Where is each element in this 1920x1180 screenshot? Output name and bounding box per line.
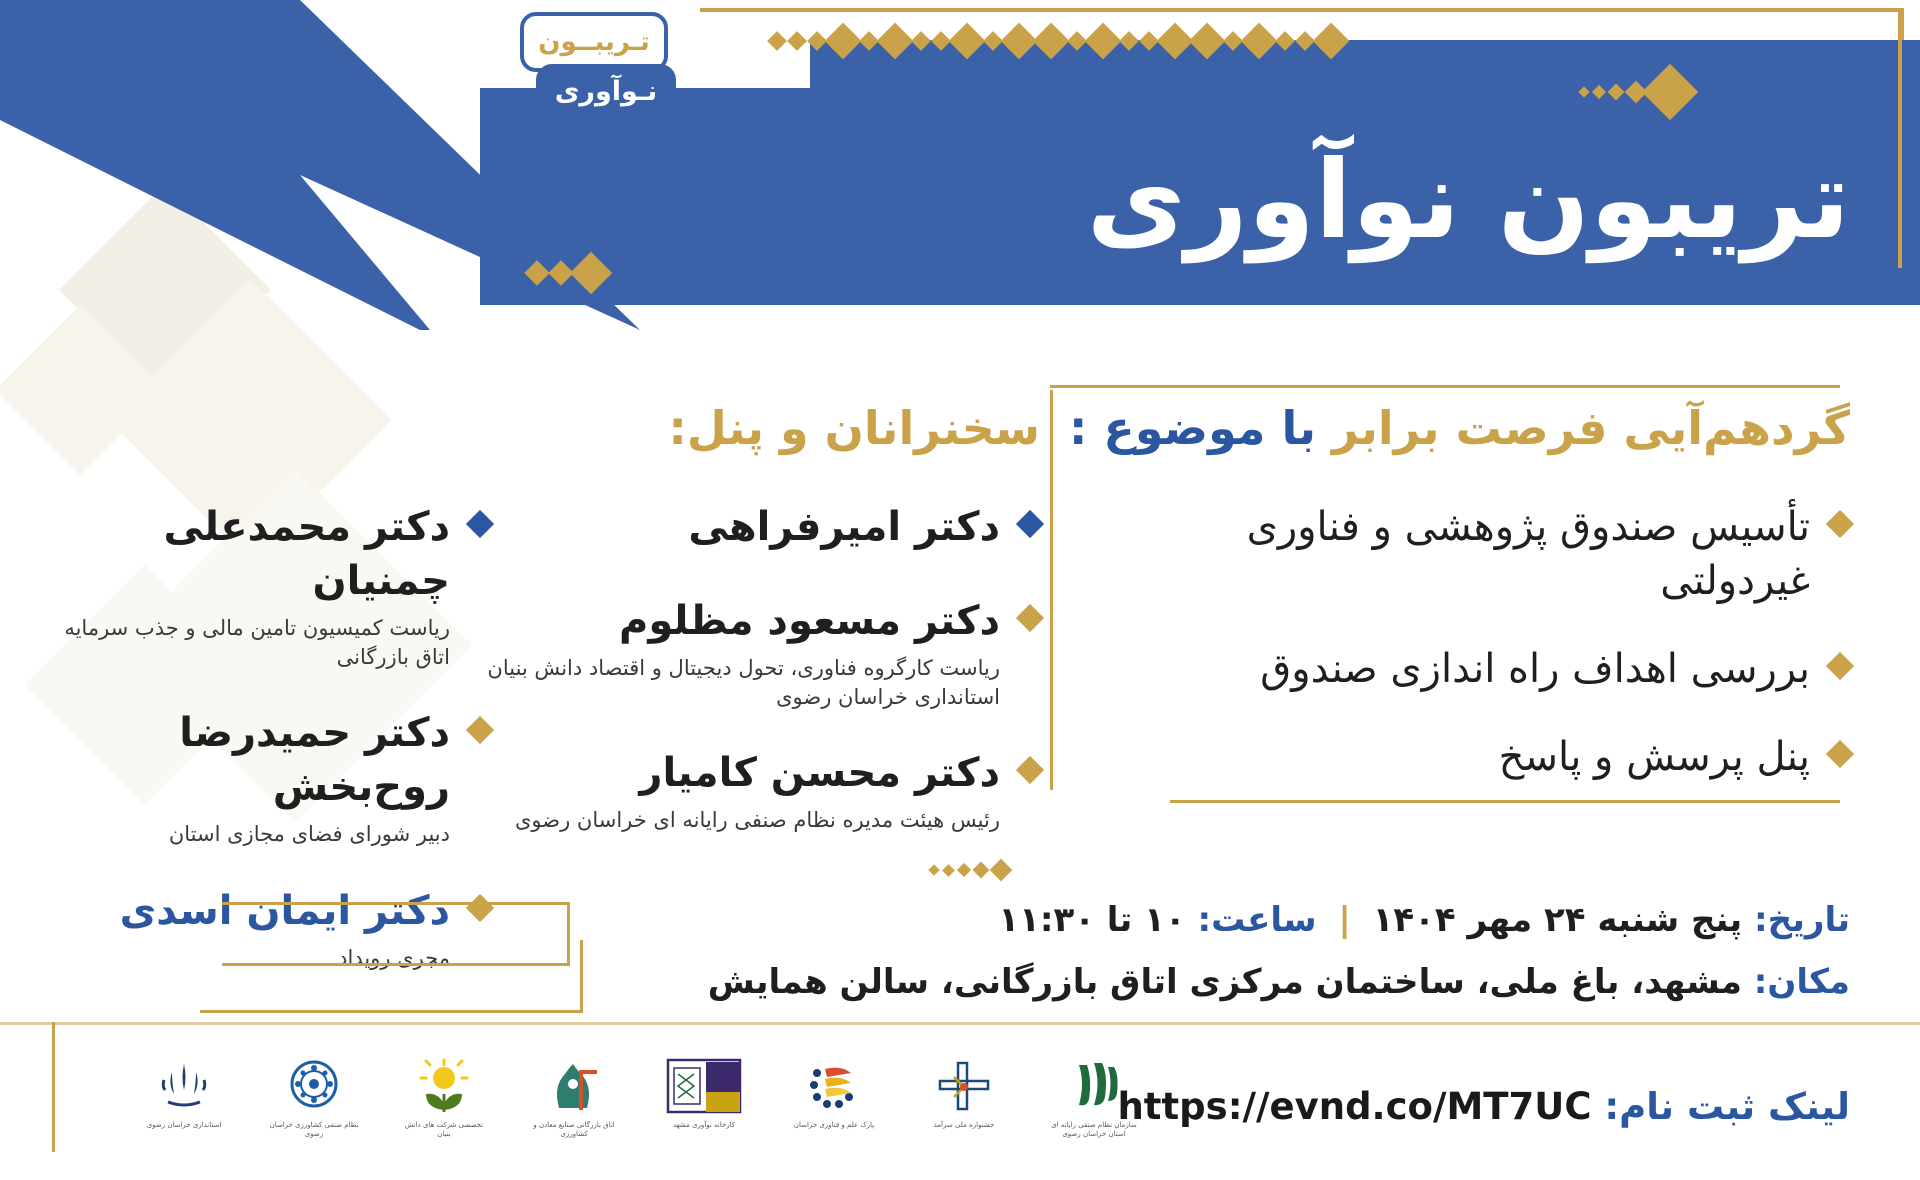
panel-role: دبیر شورای فضای مجازی استان bbox=[60, 820, 450, 849]
sponsor-caption: استانداری خراسان رضوی bbox=[147, 1121, 222, 1130]
speaker-name: دکتر محسن کامیار bbox=[480, 746, 1000, 800]
registration-link-row[interactable]: لینک ثبت نام: https://evnd.co/MT7UC bbox=[1117, 1085, 1850, 1128]
sponsor-logo: استانداری خراسان رضوی bbox=[138, 1055, 230, 1155]
topics-title: گردهم‌آیی فرصت برابر با موضوع : bbox=[1110, 400, 1850, 458]
diamond-bullet-icon bbox=[1016, 509, 1044, 537]
diamond-bullet-icon bbox=[1016, 756, 1044, 784]
time-label: ساعت: bbox=[1198, 900, 1317, 940]
diamond-bullet-icon bbox=[466, 509, 494, 537]
diamond-bullet-icon bbox=[466, 716, 494, 744]
topic-text: بررسی اهداف راه اندازی صندوق bbox=[1260, 646, 1810, 692]
divider-top bbox=[1050, 385, 1840, 388]
sponsor-mark-icon bbox=[1067, 1055, 1121, 1117]
page-title: تریبون نوآوری bbox=[700, 110, 1850, 290]
diamond-strip-top bbox=[770, 28, 1344, 54]
diamond-strip-upper-right bbox=[1580, 72, 1690, 112]
footer-frame-lower bbox=[200, 940, 583, 1013]
badge-line-1: تـریبــون bbox=[520, 12, 668, 72]
gold-right-edge bbox=[1898, 8, 1902, 268]
sponsor-mark-icon bbox=[934, 1055, 994, 1117]
sponsor-mark-icon bbox=[413, 1055, 475, 1117]
sponsor-logo: کارخانه نوآوری مشهد bbox=[658, 1055, 750, 1155]
sponsor-logo: نظام صنفی کشاورزی خراسان رضوی bbox=[268, 1055, 360, 1155]
diamond-strip-footer bbox=[930, 862, 1009, 878]
sponsor-mark-icon bbox=[805, 1055, 863, 1117]
sponsor-mark-icon bbox=[545, 1055, 603, 1117]
sponsor-caption: جشنواره ملی سرآمد bbox=[934, 1121, 995, 1130]
topic-text: پنل پرسش و پاسخ bbox=[1499, 734, 1810, 780]
footer-divider bbox=[0, 1022, 1920, 1025]
topic-item: بررسی اهداف راه اندازی صندوق bbox=[1110, 642, 1850, 696]
sponsor-logo: جشنواره ملی سرآمد bbox=[918, 1055, 1010, 1155]
sponsor-caption: اتاق بازرگانی صنایع معادن و کشاورزی bbox=[528, 1121, 620, 1139]
poster-root: تریبون نوآوری bbox=[0, 0, 1920, 1180]
event-logo-badge: تـریبــون نـوآوری bbox=[520, 12, 660, 122]
speaker-name: دکتر مسعود مظلوم bbox=[480, 594, 1000, 648]
topics-column: گردهم‌آیی فرصت برابر با موضوع : تأسیس صن… bbox=[1110, 400, 1850, 818]
speaker-role: ریاست کارگروه فناوری، تحول دیجیتال و اقت… bbox=[480, 654, 1000, 713]
footer-left-rule bbox=[52, 1022, 55, 1152]
panel-role: ریاست کمیسیون تامین مالی و جذب سرمایه ات… bbox=[60, 614, 450, 673]
place-label: مکان: bbox=[1754, 962, 1850, 1002]
sponsor-logo: تخصصی شرکت های دانش بنیان bbox=[398, 1055, 490, 1155]
diamond-bullet-icon bbox=[1826, 509, 1854, 537]
sponsor-caption: تخصصی شرکت های دانش بنیان bbox=[398, 1121, 490, 1139]
date-label: تاریخ: bbox=[1754, 900, 1850, 940]
event-location: مکان: مشهد، باغ ملی، ساختمان مرکزی اتاق … bbox=[708, 962, 1850, 1002]
sponsor-caption: کارخانه نوآوری مشهد bbox=[673, 1121, 735, 1130]
registration-url[interactable]: https://evnd.co/MT7UC bbox=[1117, 1085, 1591, 1128]
sponsor-logo: سازمان نظام صنفی رایانه ای استان خراسان … bbox=[1048, 1055, 1140, 1155]
time-value: ۱۰ تا ۱۱:۳۰ bbox=[998, 900, 1185, 940]
main-content: گردهم‌آیی فرصت برابر با موضوع : تأسیس صن… bbox=[0, 330, 1920, 850]
speakers-title: سخنرانان و پنل: bbox=[480, 400, 1040, 458]
panel-item: دکتر حمیدرضا روح‌بخش دبیر شورای فضای مجا… bbox=[60, 706, 490, 849]
diamond-bullet-icon bbox=[1826, 651, 1854, 679]
info-separator: | bbox=[1328, 900, 1360, 940]
speaker-item: دکتر محسن کامیار رئیس هیئت مدیره نظام صن… bbox=[480, 746, 1040, 835]
speaker-name: دکتر امیرفراهی bbox=[480, 500, 1000, 554]
topics-title-blue: با موضوع : bbox=[1069, 401, 1316, 455]
place-value: مشهد، باغ ملی، ساختمان مرکزی اتاق بازرگا… bbox=[708, 962, 1742, 1002]
sponsor-logo: اتاق بازرگانی صنایع معادن و کشاورزی bbox=[528, 1055, 620, 1155]
sponsor-caption: سازمان نظام صنفی رایانه ای استان خراسان … bbox=[1048, 1121, 1140, 1139]
column-divider bbox=[1050, 390, 1053, 790]
topics-title-gold: گردهم‌آیی فرصت برابر bbox=[1332, 401, 1850, 455]
sponsor-mark-icon bbox=[666, 1055, 742, 1117]
date-value: پنج شنبه ۲۴ مهر ۱۴۰۴ bbox=[1373, 900, 1743, 940]
sponsor-caption: نظام صنفی کشاورزی خراسان رضوی bbox=[268, 1121, 360, 1139]
diamond-bullet-icon bbox=[1826, 739, 1854, 767]
speaker-item: دکتر امیرفراهی bbox=[480, 500, 1040, 560]
gold-right-cap bbox=[1782, 8, 1902, 12]
diamond-strip-left bbox=[528, 258, 606, 288]
topic-item: تأسیس صندوق پژوهشی و فناوری غیردولتی bbox=[1110, 500, 1850, 608]
sponsor-logo: پارک علم و فناوری خراسان bbox=[788, 1055, 880, 1155]
panel-item: دکتر محمدعلی چمنیان ریاست کمیسیون تامین … bbox=[60, 500, 490, 673]
sponsor-mark-icon bbox=[286, 1055, 342, 1117]
speaker-item: دکتر مسعود مظلوم ریاست کارگروه فناوری، ت… bbox=[480, 594, 1040, 713]
topic-text: تأسیس صندوق پژوهشی و فناوری غیردولتی bbox=[1247, 504, 1810, 604]
panel-name: دکتر محمدعلی چمنیان bbox=[60, 500, 450, 608]
sponsor-logo-row: سازمان نظام صنفی رایانه ای استان خراسان … bbox=[140, 1050, 1140, 1160]
topic-item: پنل پرسش و پاسخ bbox=[1110, 730, 1850, 784]
diamond-bullet-icon bbox=[1016, 603, 1044, 631]
badge-line-2: نـوآوری bbox=[536, 64, 676, 118]
speakers-column: سخنرانان و پنل: دکتر امیرفراهی دکتر مسعو… bbox=[480, 400, 1040, 870]
registration-label: لینک ثبت نام: bbox=[1604, 1085, 1850, 1128]
sponsor-mark-icon bbox=[156, 1055, 212, 1117]
sponsor-caption: پارک علم و فناوری خراسان bbox=[794, 1121, 874, 1130]
panel-name: دکتر حمیدرضا روح‌بخش bbox=[60, 706, 450, 814]
event-datetime: تاریخ: پنج شنبه ۲۴ مهر ۱۴۰۴ | ساعت: ۱۰ ت… bbox=[998, 900, 1850, 940]
speaker-role: رئیس هیئت مدیره نظام صنفی رایانه ای خراس… bbox=[480, 806, 1000, 835]
